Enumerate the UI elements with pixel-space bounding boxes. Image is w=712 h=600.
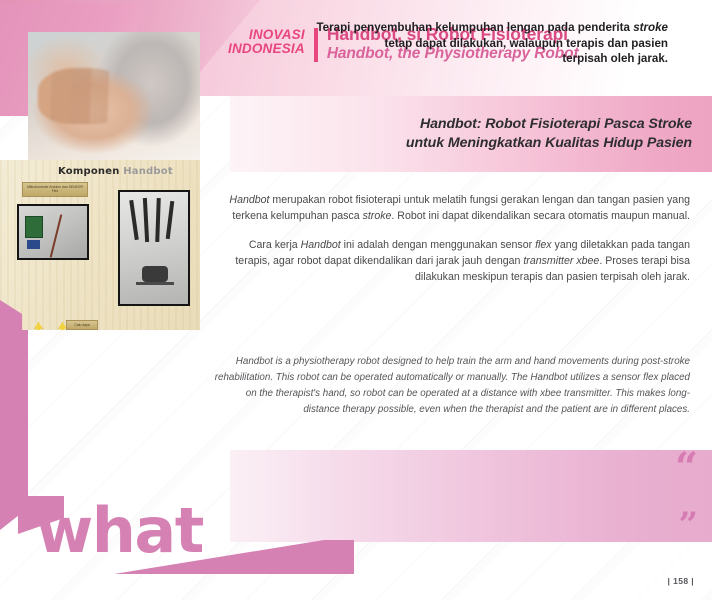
module-shape (27, 240, 40, 249)
quote-line-2: tetap dapat dilakukan, walaupun terapis … (278, 36, 668, 52)
physiotherapy-massage-photo (28, 32, 200, 160)
subtitle-line-2: untuk Meningkatkan Kualitas Hidup Pasien (406, 134, 692, 153)
quote-open-mark-icon: “ (675, 448, 698, 488)
servo-base (142, 266, 168, 282)
finger-rod-4 (166, 201, 175, 239)
slide-title-plain: Komponen (58, 166, 123, 177)
subtitle-line-1: Handbot: Robot Fisioterapi Pasca Stroke (406, 115, 692, 134)
body-text-english: Handbot is a physiotherapy robot designe… (214, 354, 690, 417)
slide-photo-actuator (118, 190, 190, 306)
microcontroller-image (19, 206, 87, 258)
quote-line-1: Terapi penyembuhan kelumpuhan lengan pad… (278, 20, 668, 36)
body-paragraph-1: Handbot merupakan robot fisioterapi untu… (222, 192, 690, 224)
finger-rod-2 (143, 198, 149, 242)
flex-sensor-strip (50, 214, 63, 257)
slide-title: Komponen Handbot (58, 166, 173, 177)
body-paragraph-2: Cara kerja Handbot ini adalah dengan men… (222, 237, 690, 285)
mount-bar (136, 282, 174, 285)
slide-label-microcontroller: Mikrokontroler Arduino dan SENSOR Flex (22, 182, 88, 197)
body-paragraph-english: Handbot is a physiotherapy robot designe… (214, 354, 690, 417)
finger-rod-3 (155, 198, 161, 242)
subtitle-band: Handbot: Robot Fisioterapi Pasca Stroke … (230, 96, 712, 172)
slide-label-power: Catu daya (66, 320, 98, 330)
flow-arrow-up-icon-1 (34, 322, 43, 330)
page-number: | 158 | (668, 576, 694, 586)
pull-quote-text: Terapi penyembuhan kelumpuhan lengan pad… (278, 20, 668, 67)
finger-rod-1 (129, 200, 139, 240)
quote-close-mark-icon: ” (678, 508, 698, 542)
body-text-indonesian: Handbot merupakan robot fisioterapi untu… (222, 192, 690, 285)
arduino-board-shape (25, 216, 43, 238)
pull-quote-band (230, 450, 712, 542)
quote-line-3: terpisah oleh jarak. (278, 51, 668, 67)
therapy-photo-block (0, 0, 200, 160)
section-word-what: what (36, 500, 203, 562)
actuator-image (120, 192, 188, 304)
subtitle-text: Handbot: Robot Fisioterapi Pasca Stroke … (406, 115, 712, 152)
slide-title-highlight: Handbot (123, 166, 173, 177)
komponen-handbot-slide-photo: Komponen Handbot Mikrokontroler Arduino … (0, 160, 200, 330)
slide-photo-microcontroller (17, 204, 89, 260)
